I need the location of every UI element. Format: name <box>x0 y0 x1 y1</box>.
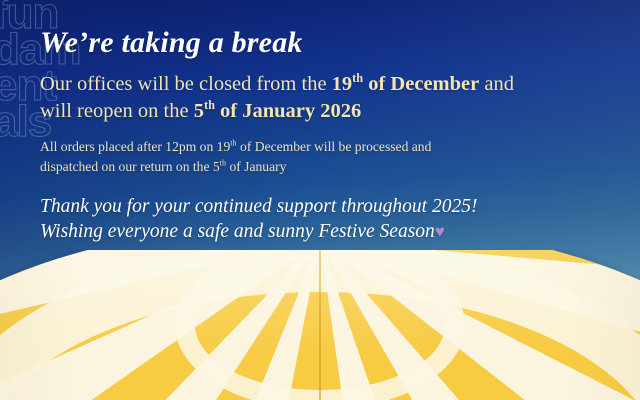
reopen-ordinal: th <box>204 98 215 112</box>
closing-paragraph: Thank you for your continued support thr… <box>40 194 622 245</box>
purple-heart-icon: ♥ <box>435 222 445 241</box>
reopen-day: 5 <box>194 100 204 122</box>
fine-line1-prefix: All orders placed after 12pm on <box>40 139 217 154</box>
fine-line2-prefix: dispatched on our return on the <box>40 159 213 174</box>
closing-line-1: Thank you for your continued support thr… <box>40 196 477 217</box>
closure-start-ordinal: th <box>352 71 363 85</box>
fine-line1-suffix: of December will be processed and <box>237 139 432 154</box>
closure-start-day: 19 <box>332 73 353 95</box>
lead-line1-prefix: Our offices will be closed from the <box>40 73 332 95</box>
dispatch-day: 5 <box>213 159 220 174</box>
message-content: We’re taking a break Our offices will be… <box>40 26 622 245</box>
umbrella-canopy <box>0 250 640 400</box>
closure-start-date: 19th of December <box>332 73 480 95</box>
closing-line-2: Wishing everyone a safe and sunny Festiv… <box>40 221 435 242</box>
closure-start-month: of December <box>363 73 479 95</box>
order-dispatch-paragraph: All orders placed after 12pm on 19th of … <box>40 137 622 178</box>
umbrella-shading-overlay <box>0 250 640 400</box>
beach-umbrella-photo <box>0 250 640 400</box>
lead-line1-suffix: and <box>479 73 514 95</box>
lead-line2-prefix: will reopen on the <box>40 100 194 122</box>
fine-line2-suffix: of January <box>226 159 286 174</box>
reopen-date: 5th of January 2026 <box>194 100 362 122</box>
closure-dates-paragraph: Our offices will be closed from the 19th… <box>40 71 622 125</box>
holiday-closure-notice-image: fun dam ent als We’re taking a break Our… <box>0 0 640 400</box>
headline: We’re taking a break <box>40 26 622 60</box>
cutoff-day: 19 <box>217 139 231 154</box>
reopen-month-year: of January 2026 <box>215 100 361 122</box>
